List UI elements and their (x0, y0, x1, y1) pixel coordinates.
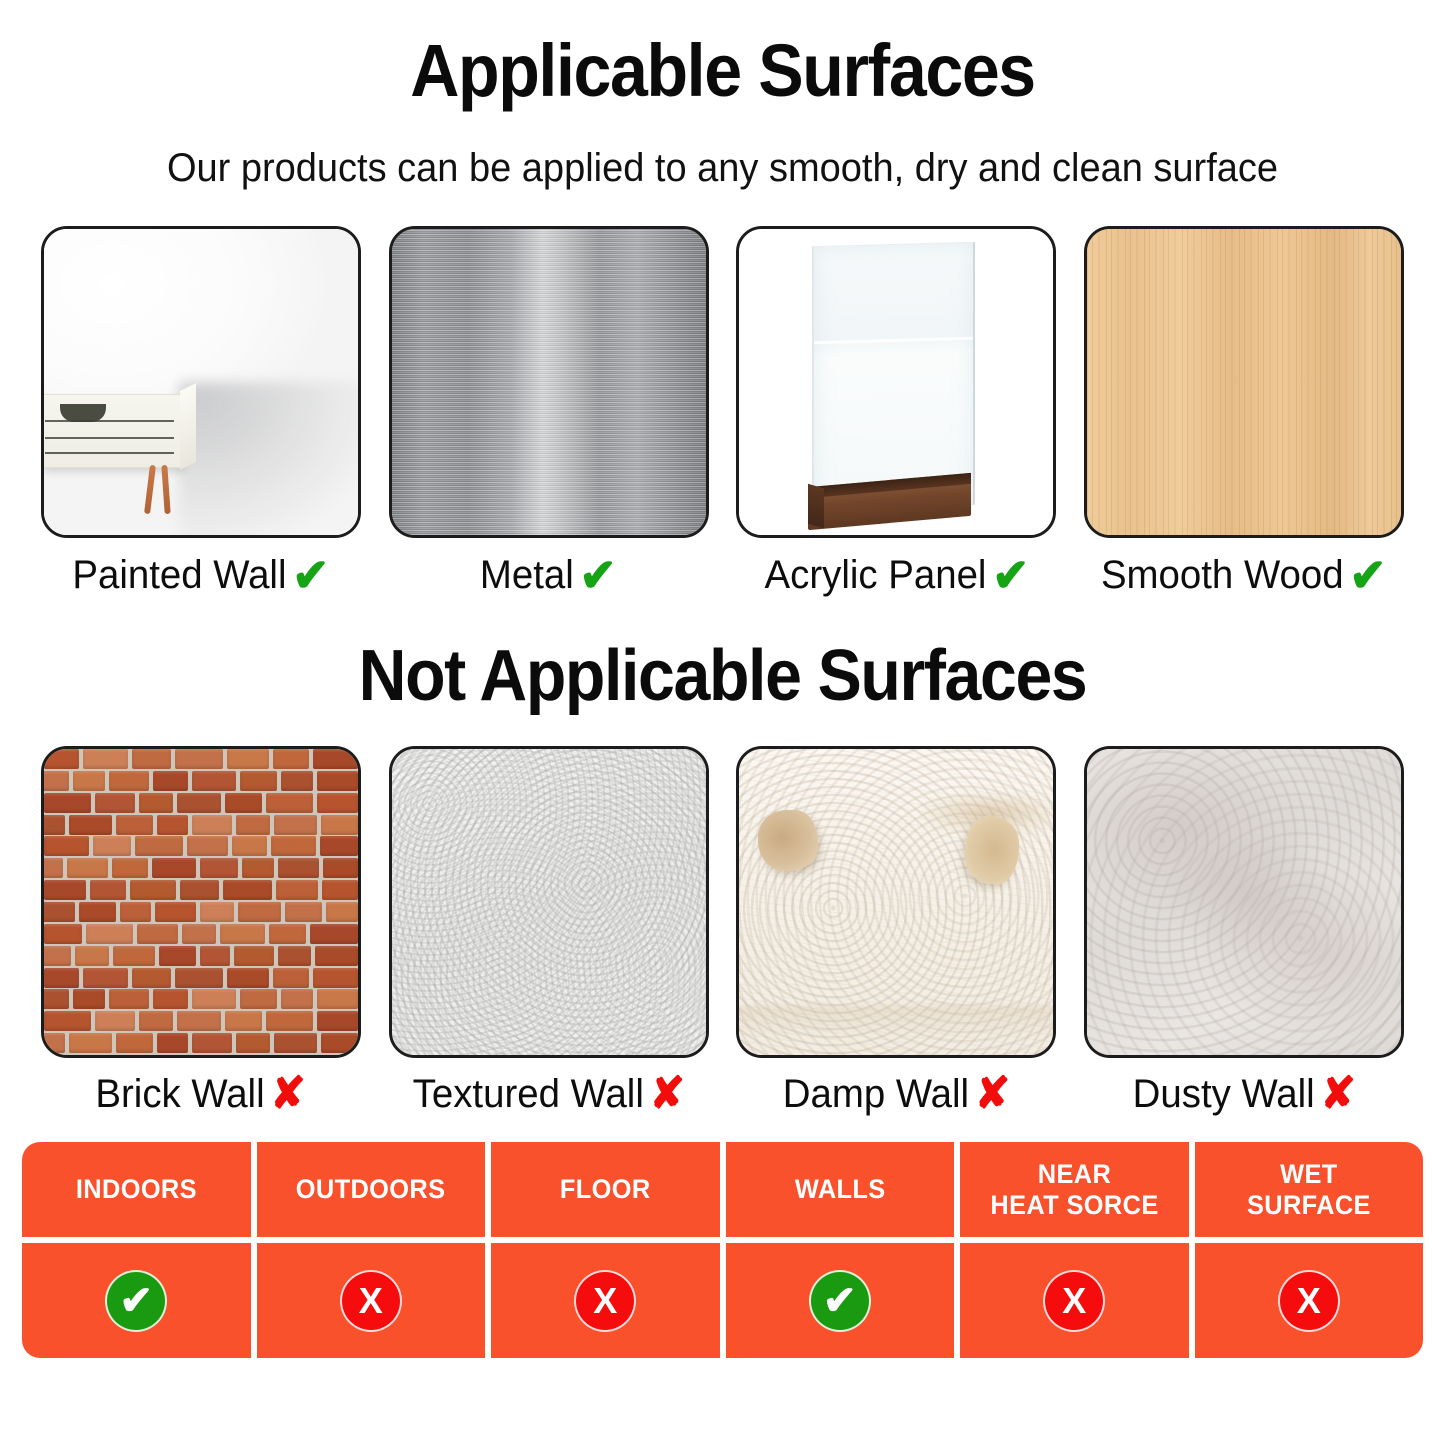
brick (41, 771, 69, 791)
surface-card-brick-wall: Brick Wall ✘ (36, 746, 366, 1116)
painted-wall-label: Painted Wall (72, 555, 286, 595)
applicable-subtitle-block: Our products can be applied to any smoot… (0, 108, 1445, 188)
brick-row (41, 858, 358, 878)
painted-wall-caption: Painted Wall ✔ (72, 552, 329, 598)
brick (175, 968, 224, 988)
not-applicable-title: Not Applicable Surfaces (58, 640, 1387, 712)
brick (109, 989, 150, 1009)
brick (73, 771, 105, 791)
usage-status-cell: X (491, 1243, 720, 1358)
brick (73, 989, 105, 1009)
usage-status-cell: X (960, 1243, 1189, 1358)
usage-header-cell: OUTDOORS (257, 1142, 486, 1237)
brick (236, 815, 270, 835)
surface-card-damp-wall: Damp Wall ✘ (732, 746, 1062, 1116)
brick (323, 858, 358, 878)
usage-header-cell: WALLS (726, 1142, 955, 1237)
brick (278, 946, 312, 966)
surface-card-smooth-wood: Smooth Wood ✔ (1079, 226, 1409, 598)
surface-card-acrylic-panel: Acrylic Panel ✔ (732, 226, 1062, 598)
brick (95, 1011, 136, 1031)
acrylic-panel-label: Acrylic Panel (764, 555, 986, 595)
usage-header-label: WALLS (794, 1174, 885, 1204)
brick (44, 749, 79, 769)
brick (112, 858, 147, 878)
brick (153, 771, 188, 791)
brick (120, 902, 151, 922)
applicable-title: Applicable Surfaces (58, 34, 1387, 108)
brick (95, 793, 136, 813)
brick (278, 858, 319, 878)
brick (182, 924, 216, 944)
brick-wall-label: Brick Wall (96, 1074, 265, 1114)
brick (41, 815, 65, 835)
brick (200, 946, 231, 966)
brick (274, 1033, 317, 1053)
brick-row (41, 902, 358, 922)
brick (75, 946, 109, 966)
brick (93, 836, 131, 856)
brick (41, 858, 64, 878)
brick (285, 902, 322, 922)
brick (177, 793, 221, 813)
acrylic-panel-image (736, 226, 1056, 538)
surface-card-dusty-wall: Dusty Wall ✘ (1079, 746, 1409, 1116)
brick (175, 749, 224, 769)
brick (135, 836, 183, 856)
check-icon: ✔ (580, 552, 617, 598)
brick-row (41, 771, 358, 791)
brick (234, 946, 274, 966)
usage-table: INDOORSOUTDOORSFLOORWALLSNEARHEAT SORCEW… (22, 1142, 1423, 1358)
badge-glyph: X (1062, 1283, 1086, 1319)
usage-header-cell: FLOOR (491, 1142, 720, 1237)
smooth-wood-image (1084, 226, 1404, 538)
brick (157, 815, 188, 835)
brick (177, 1011, 221, 1031)
brick-row (41, 815, 358, 835)
brick (139, 1011, 173, 1031)
brick (238, 902, 281, 922)
brick (83, 749, 128, 769)
brick (79, 902, 116, 922)
brick (44, 880, 86, 900)
badge-glyph: ✔ (823, 1281, 857, 1321)
brick (90, 880, 126, 900)
brick (321, 1033, 358, 1053)
brick (44, 968, 79, 988)
brick (86, 924, 133, 944)
surface-card-textured-wall: Textured Wall ✘ (384, 746, 714, 1116)
brick (321, 815, 358, 835)
brick (240, 771, 278, 791)
usage-status-cell: X (257, 1243, 486, 1358)
brick (192, 771, 236, 791)
brick (152, 858, 196, 878)
dusty-wall-label: Dusty Wall (1133, 1074, 1315, 1114)
usage-header-label: OUTDOORS (296, 1174, 446, 1204)
usage-header-label: FLOOR (560, 1174, 651, 1204)
brick (232, 836, 267, 856)
badge-check-icon: ✔ (809, 1270, 871, 1332)
usage-status-cell: X (1195, 1243, 1424, 1358)
brick (276, 880, 318, 900)
cross-icon: ✘ (1320, 1072, 1355, 1116)
cross-icon: ✘ (975, 1072, 1010, 1116)
brick (220, 924, 264, 944)
brick-row (44, 880, 358, 900)
cross-icon: ✘ (649, 1072, 684, 1116)
usage-header-cell: WETSURFACE (1195, 1142, 1424, 1237)
brick-row (44, 836, 358, 856)
brick (317, 793, 358, 813)
brick (223, 880, 272, 900)
brick (326, 902, 357, 922)
brick (157, 1033, 188, 1053)
brick (192, 815, 232, 835)
brick (269, 924, 307, 944)
brick (273, 968, 308, 988)
badge-cross-icon: X (1278, 1270, 1340, 1332)
brick-row (41, 989, 358, 1009)
brick (69, 1033, 112, 1053)
usage-header-label: WETSURFACE (1247, 1159, 1371, 1219)
brick (317, 989, 358, 1009)
damp-wall-label: Damp Wall (783, 1074, 969, 1114)
brick-row (44, 1011, 358, 1031)
brick (44, 924, 82, 944)
brick-wall-caption: Brick Wall ✘ (96, 1072, 306, 1116)
badge-cross-icon: X (574, 1270, 636, 1332)
brick (116, 1033, 153, 1053)
brick (271, 836, 316, 856)
dusty-wall-image (1084, 746, 1404, 1058)
textured-wall-image (389, 746, 709, 1058)
applicable-grid: Painted Wall ✔ Metal ✔ Acrylic Pane (0, 226, 1445, 598)
smooth-wood-caption: Smooth Wood ✔ (1101, 552, 1386, 598)
brick (130, 880, 176, 900)
usage-header-label: INDOORS (76, 1174, 197, 1204)
surface-card-metal: Metal ✔ (384, 226, 714, 598)
brick-row (44, 924, 358, 944)
usage-header-label: NEARHEAT SORCE (990, 1159, 1158, 1219)
badge-glyph: X (1297, 1283, 1321, 1319)
brick (281, 771, 313, 791)
cross-icon: ✘ (271, 1072, 306, 1116)
brick (322, 880, 358, 900)
brick (317, 1011, 358, 1031)
brick (41, 1033, 65, 1053)
textured-wall-caption: Textured Wall ✘ (412, 1072, 684, 1116)
applicable-subtitle: Our products can be applied to any smoot… (36, 148, 1409, 188)
surface-card-painted-wall: Painted Wall ✔ (36, 226, 366, 598)
usage-header-cell: INDOORS (22, 1142, 251, 1237)
badge-glyph: X (593, 1283, 617, 1319)
brick (313, 968, 358, 988)
not-applicable-grid: Brick Wall ✘ Textured Wall ✘ (0, 746, 1445, 1116)
brick (192, 989, 236, 1009)
infographic-page: Applicable Surfaces Our products can be … (0, 0, 1445, 1445)
brick (155, 902, 195, 922)
brick (227, 968, 269, 988)
brick (200, 902, 234, 922)
brick (41, 902, 75, 922)
brick (274, 815, 317, 835)
brick (41, 989, 69, 1009)
brick (139, 793, 173, 813)
brick (317, 771, 358, 791)
brick (159, 946, 196, 966)
brick (44, 1011, 91, 1031)
brick (109, 771, 150, 791)
brick (180, 880, 219, 900)
brick (187, 836, 228, 856)
brick (320, 836, 358, 856)
check-icon: ✔ (292, 552, 329, 598)
brick (83, 968, 128, 988)
usage-status-cell: ✔ (22, 1243, 251, 1358)
brick (67, 858, 108, 878)
brick (132, 749, 171, 769)
painted-wall-image (41, 226, 361, 538)
brick (132, 968, 171, 988)
brick (273, 749, 308, 769)
brick (266, 793, 313, 813)
brick-row (41, 1033, 358, 1053)
check-icon: ✔ (1350, 552, 1387, 598)
check-icon: ✔ (992, 552, 1029, 598)
usage-header-cell: NEARHEAT SORCE (960, 1142, 1189, 1237)
badge-glyph: ✔ (119, 1281, 153, 1321)
brick-row (44, 968, 358, 988)
brick (236, 1033, 270, 1053)
badge-glyph: X (359, 1283, 383, 1319)
badge-cross-icon: X (340, 1270, 402, 1332)
brick (113, 946, 155, 966)
brick-row (44, 793, 358, 813)
brick (242, 858, 274, 878)
brick-wall-image (41, 746, 361, 1058)
badge-cross-icon: X (1043, 1270, 1105, 1332)
brick-row (44, 749, 358, 769)
usage-table-wrap: INDOORSOUTDOORSFLOORWALLSNEARHEAT SORCEW… (0, 1142, 1445, 1358)
brick (116, 815, 153, 835)
damp-wall-caption: Damp Wall ✘ (783, 1072, 1011, 1116)
brick (313, 749, 358, 769)
brick (240, 989, 278, 1009)
brick (200, 858, 238, 878)
brick (69, 815, 112, 835)
brick (225, 1011, 262, 1031)
brick (266, 1011, 313, 1031)
brick (44, 793, 91, 813)
usage-status-cell: ✔ (726, 1243, 955, 1358)
brick (192, 1033, 232, 1053)
badge-check-icon: ✔ (105, 1270, 167, 1332)
metal-caption: Metal ✔ (480, 552, 617, 598)
brick (137, 924, 178, 944)
applicable-title-block: Applicable Surfaces (0, 0, 1445, 108)
smooth-wood-label: Smooth Wood (1101, 555, 1344, 595)
brick-row (41, 946, 358, 966)
not-applicable-title-block: Not Applicable Surfaces (0, 640, 1445, 712)
acrylic-panel-caption: Acrylic Panel ✔ (764, 552, 1029, 598)
textured-wall-label: Textured Wall (412, 1074, 643, 1114)
brick (315, 946, 357, 966)
brick (153, 989, 188, 1009)
brick (227, 749, 269, 769)
brick (44, 836, 89, 856)
brick (41, 946, 71, 966)
metal-label: Metal (480, 555, 574, 595)
metal-image (389, 226, 709, 538)
dusty-wall-caption: Dusty Wall ✘ (1133, 1072, 1356, 1116)
damp-wall-image (736, 746, 1056, 1058)
brick (225, 793, 262, 813)
brick (310, 924, 357, 944)
brick (281, 989, 313, 1009)
